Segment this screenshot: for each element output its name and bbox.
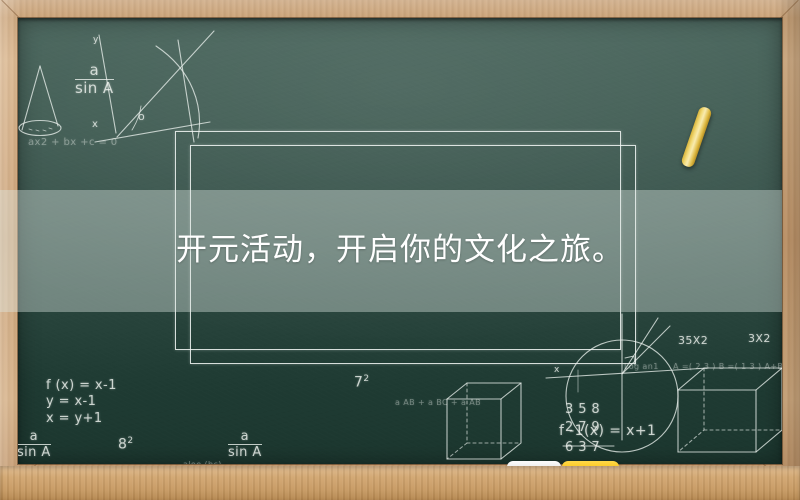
function-line-3: x = y+1 [46,411,117,427]
law-of-sines-1: a sin A [75,63,114,97]
power-eight: 82 [118,436,133,453]
quadratic-formula: ax2 + bx +c = 0 [28,137,118,148]
matrix-expression: A =( 2 3 ) B =( 1 3 ) A+B=( 3 6 ) [673,362,782,371]
axis-label-x: x [92,119,98,130]
axis-label-y: y [93,35,99,45]
function-line-1: f (x) = x-1 [46,378,117,394]
chalk-tray-ledge [0,466,800,500]
subtraction-line-1: 3 5 8 [565,401,600,419]
vector-sum: a AB + a BC + a AB [395,398,481,407]
law-of-sines-3: a sin A [228,430,262,459]
log-label-2: aloe (bc) [183,460,222,464]
angle-label: o [138,110,145,123]
subtraction-line-3: 6 3 7 [565,439,600,457]
power-eight-exp: 2 [127,436,133,446]
subtraction-block: 3 5 8 2 7 9 6 3 7 [565,401,600,457]
law-of-sines-3-wrap: a sin A [228,430,262,460]
function-line-2: y = x-1 [46,394,117,410]
chalkboard-banner: a sin A y x o ax2 + bx +c = 0 f (x) = x-… [0,0,800,500]
power-seven-exp: 2 [363,374,369,384]
law-of-sines-2: a sin A [18,430,51,459]
axis-small-x: x [554,365,560,375]
function-lines: f (x) = x-1 y = x-1 x = y+1 [46,378,117,427]
matrix-dim-1: 35X2 [678,334,708,347]
law-of-sines-2-wrap: a sin A [18,430,51,460]
matrix-dim-2: 3X2 [748,332,771,345]
headline-text: 开元活动，开启你的文化之旅。 [0,228,800,272]
subtraction-line-2: 2 7 9 [565,419,600,437]
power-seven: 72 [354,374,369,391]
